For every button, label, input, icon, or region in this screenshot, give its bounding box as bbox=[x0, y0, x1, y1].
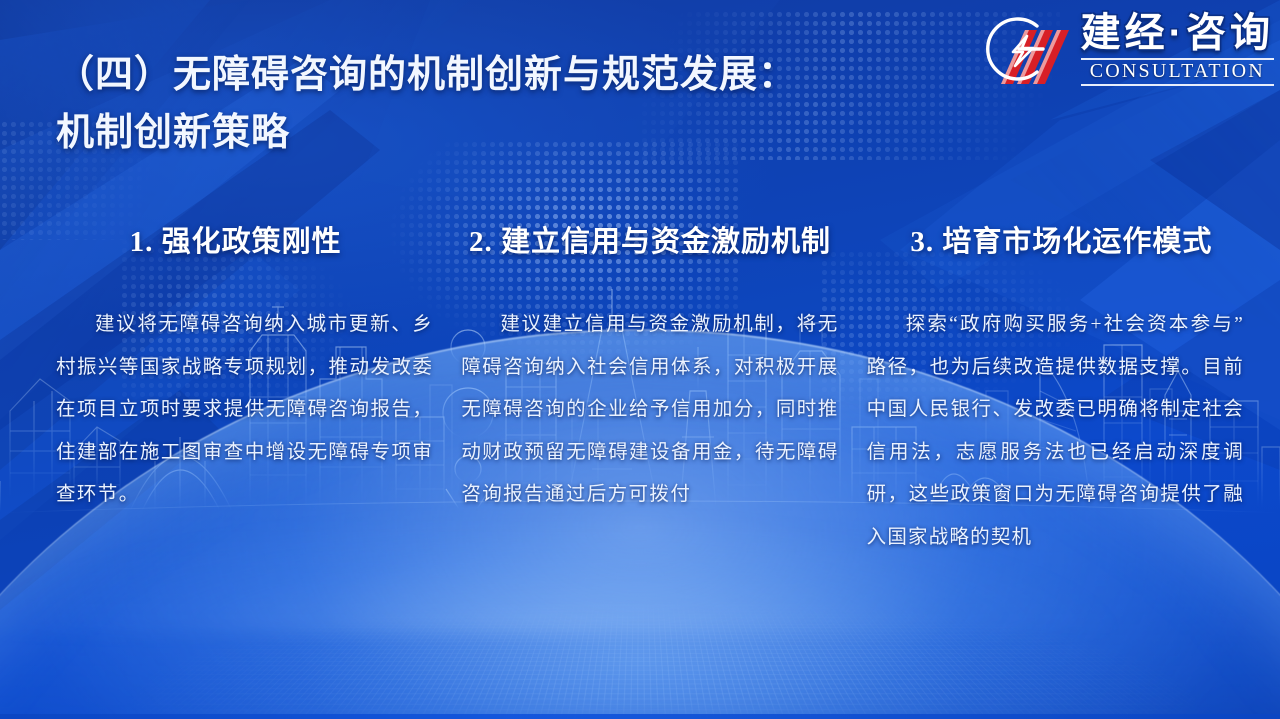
column-1-heading: 1. 强化政策刚性 bbox=[56, 218, 433, 260]
logo-divider-bottom bbox=[1081, 84, 1274, 86]
jianjing-circle-g-mark-icon bbox=[963, 10, 1075, 88]
logo-chinese-name: 建经·咨询 bbox=[1081, 12, 1274, 55]
content-columns: 1. 强化政策刚性 建议将无障碍咨询纳入城市更新、乡村振兴等国家战略专项规划，推… bbox=[0, 218, 1280, 579]
column-strategy-2: 2. 建立信用与资金激励机制 建议建立信用与资金激励机制，将无障碍咨询纳入社会信… bbox=[447, 218, 852, 579]
bottom-edge-strip bbox=[0, 714, 1280, 719]
column-2-heading: 2. 建立信用与资金激励机制 bbox=[461, 218, 838, 260]
company-logo: 建经·咨询 CONSULTATION bbox=[959, 6, 1280, 92]
presentation-slide: 建经·咨询 CONSULTATION （四）无障碍咨询的机制创新与规范发展： 机… bbox=[0, 0, 1280, 719]
column-3-heading: 3. 培育市场化运作模式 bbox=[873, 218, 1250, 260]
column-strategy-1: 1. 强化政策刚性 建议将无障碍咨询纳入城市更新、乡村振兴等国家战略专项规划，推… bbox=[26, 218, 447, 579]
column-3-body: 探索“政府购买服务+社会资本参与”路径，也为后续改造提供数据支撑。目前中国人民银… bbox=[867, 304, 1244, 559]
slide-title-line-2: 机制创新策略 bbox=[56, 105, 956, 163]
column-strategy-3: 3. 培育市场化运作模式 探索“政府购买服务+社会资本参与”路径，也为后续改造提… bbox=[853, 218, 1254, 579]
slide-title-line-1: （四）无障碍咨询的机制创新与规范发展： bbox=[56, 54, 797, 96]
logo-wordmark: 建经·咨询 CONSULTATION bbox=[1081, 12, 1278, 85]
column-2-body: 建议建立信用与资金激励机制，将无障碍咨询纳入社会信用体系，对积极开展无障碍咨询的… bbox=[461, 304, 838, 517]
column-1-body: 建议将无障碍咨询纳入城市更新、乡村振兴等国家战略专项规划，推动发改委在项目立项时… bbox=[56, 304, 433, 517]
slide-title: （四）无障碍咨询的机制创新与规范发展： 机制创新策略 bbox=[56, 47, 956, 163]
perspective-dot-grid bbox=[0, 597, 1280, 719]
logo-english-name: CONSULTATION bbox=[1081, 61, 1274, 82]
